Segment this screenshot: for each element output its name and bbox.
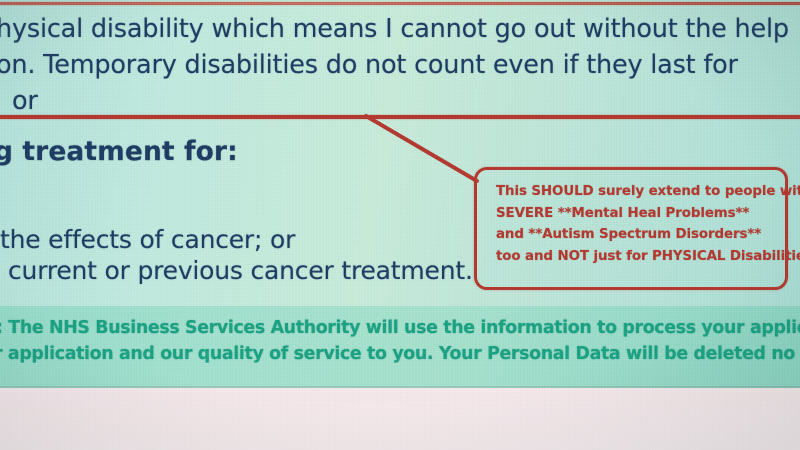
- form-paragraph-line-1: hysical disability which means I cannot …: [0, 14, 789, 44]
- privacy-notice-line-2: r application and our quality of service…: [0, 344, 800, 364]
- callout-line-3: and **Autism Spectrum Disorders**: [496, 224, 780, 246]
- callout-line-4: too and NOT just for PHYSICAL Disabiliti…: [496, 246, 780, 268]
- page-bottom-edge: [0, 388, 800, 450]
- annotation-callout-text: This SHOULD surely extend to people with…: [496, 181, 780, 267]
- privacy-notice-line-1: : The NHS Business Services Authority wi…: [0, 318, 800, 338]
- photo-canvas: hysical disability which means I cannot …: [0, 0, 800, 450]
- form-bullet-line-2: current or previous cancer treatment.: [8, 256, 473, 285]
- callout-line-2: SEVERE **Mental Heal Problems**: [496, 203, 780, 225]
- annotation-top-rule: [0, 2, 800, 5]
- callout-line-1: This SHOULD surely extend to people with: [496, 181, 780, 203]
- form-paragraph-line-2: on. Temporary disabilities do not count …: [0, 50, 738, 80]
- form-bullet-line-1: the effects of cancer; or: [0, 225, 295, 254]
- form-paragraph-line-3: or: [12, 86, 38, 116]
- form-section-heading: g treatment for:: [0, 136, 238, 167]
- annotation-underline-rule: [0, 115, 800, 119]
